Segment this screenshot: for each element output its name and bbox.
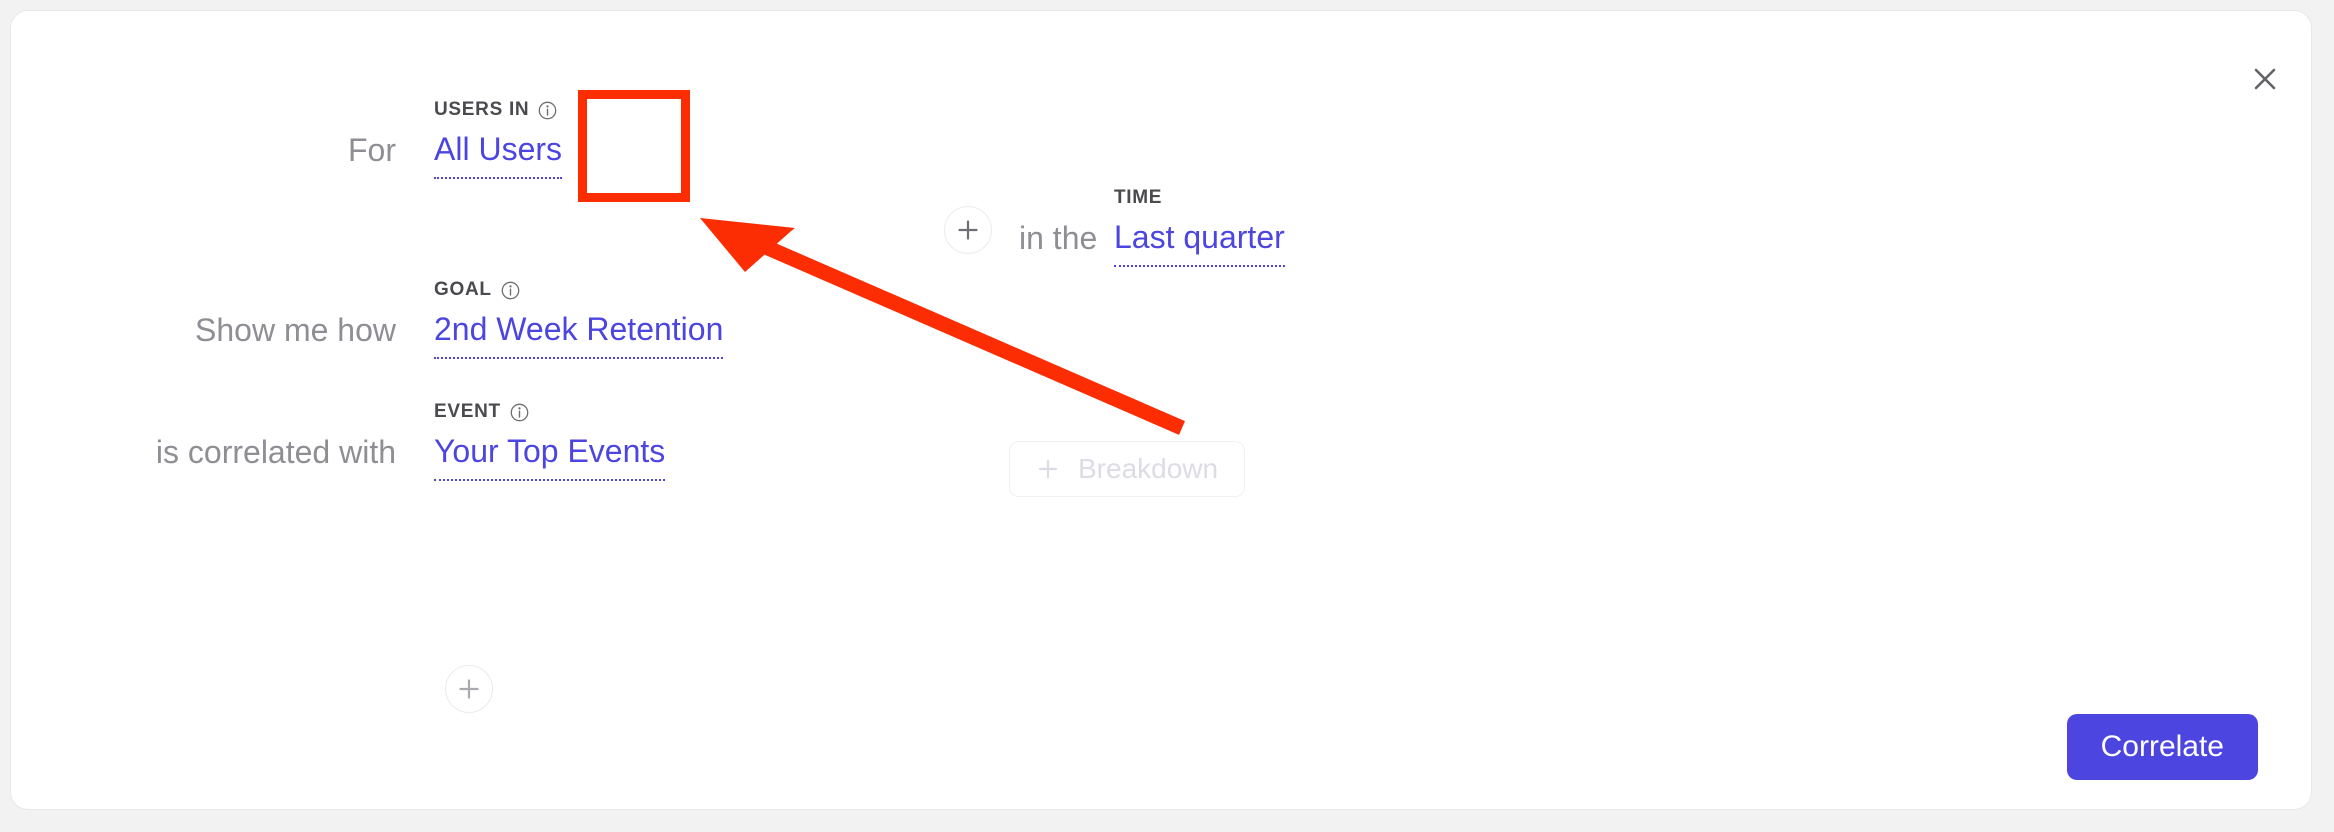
- field-label-event: EVENT: [434, 401, 665, 423]
- query-row-goal: Show me how GOAL 2nd Week Retention: [11, 279, 723, 359]
- correlate-button[interactable]: Correlate: [2067, 714, 2258, 780]
- field-value-event[interactable]: Your Top Events: [434, 431, 665, 481]
- add-query-step-button[interactable]: [445, 665, 493, 713]
- field-label-time: TIME: [1114, 187, 1285, 209]
- field-value-users-in[interactable]: All Users: [434, 129, 562, 179]
- info-icon[interactable]: [510, 403, 529, 422]
- event-label-text: EVENT: [434, 401, 501, 423]
- query-row-event: is correlated with EVENT Your Top Events: [11, 401, 665, 481]
- add-breakdown-button[interactable]: Breakdown: [1009, 441, 1245, 497]
- field-label-users-in: USERS IN: [434, 99, 562, 121]
- users-in-label-text: USERS IN: [434, 99, 529, 121]
- close-button[interactable]: [2245, 59, 2285, 99]
- field-label-goal: GOAL: [434, 279, 723, 301]
- screen: For USERS IN All Users: [0, 0, 2334, 832]
- field-users-in: USERS IN All Users: [434, 99, 562, 179]
- time-label-text: TIME: [1114, 187, 1162, 209]
- close-icon: [2252, 66, 2278, 92]
- plus-icon: [457, 677, 481, 701]
- field-value-time[interactable]: Last quarter: [1114, 217, 1285, 267]
- field-goal: GOAL 2nd Week Retention: [434, 279, 723, 359]
- row-prefix-for: For: [11, 133, 396, 179]
- info-icon[interactable]: [501, 281, 520, 300]
- correlation-query-card: For USERS IN All Users: [10, 10, 2312, 810]
- field-value-goal[interactable]: 2nd Week Retention: [434, 309, 723, 359]
- info-icon[interactable]: [538, 101, 557, 120]
- plus-icon: [1036, 457, 1060, 481]
- field-event: EVENT Your Top Events: [434, 401, 665, 481]
- query-row-users: For USERS IN All Users: [11, 99, 562, 179]
- field-time: TIME Last quarter: [1114, 187, 1285, 267]
- plus-icon: [956, 218, 980, 242]
- row-prefix-show-me-how: Show me how: [11, 313, 396, 359]
- connector-in-the: in the: [1019, 221, 1097, 255]
- goal-label-text: GOAL: [434, 279, 492, 301]
- breakdown-label: Breakdown: [1078, 453, 1218, 485]
- row-prefix-is-correlated-with: is correlated with: [11, 435, 396, 481]
- add-cohort-button[interactable]: [944, 206, 992, 254]
